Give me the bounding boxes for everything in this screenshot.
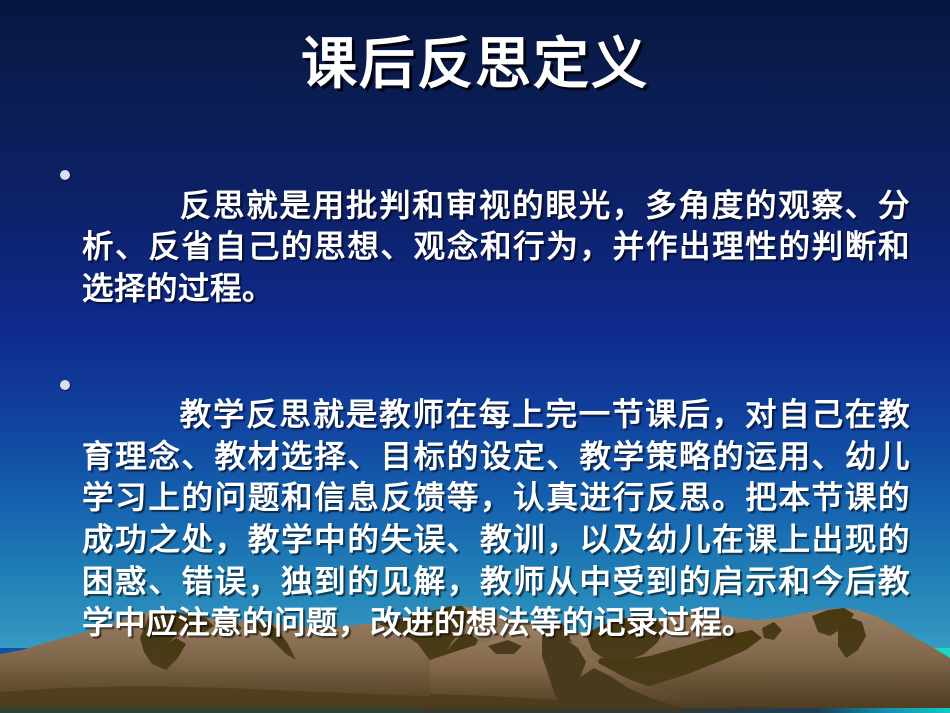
presentation-slide: 课后反思定义 反思就是用批判和审视的眼光，多角度的观察、分析、反省自己的思想、观… [0, 0, 950, 713]
slide-body: 反思就是用批判和审视的眼光，多角度的观察、分析、反省自己的思想、观念和行为，并作… [48, 154, 910, 676]
slide-bottom-strip [0, 708, 950, 713]
list-item-text: 反思就是用批判和审视的眼光，多角度的观察、分析、反省自己的思想、观念和行为，并作… [82, 186, 910, 311]
slide-title: 课后反思定义 [0, 36, 950, 95]
bullet-dot-icon [60, 170, 70, 180]
bullet-dot-icon [60, 380, 70, 390]
list-item: 教学反思就是教师在每上完一节课后，对自己在教育理念、教材选择、目标的设定、教学策… [48, 364, 910, 676]
list-item-text: 教学反思就是教师在每上完一节课后，对自己在教育理念、教材选择、目标的设定、教学策… [82, 395, 910, 644]
list-item: 反思就是用批判和审视的眼光，多角度的观察、分析、反省自己的思想、观念和行为，并作… [48, 154, 910, 342]
